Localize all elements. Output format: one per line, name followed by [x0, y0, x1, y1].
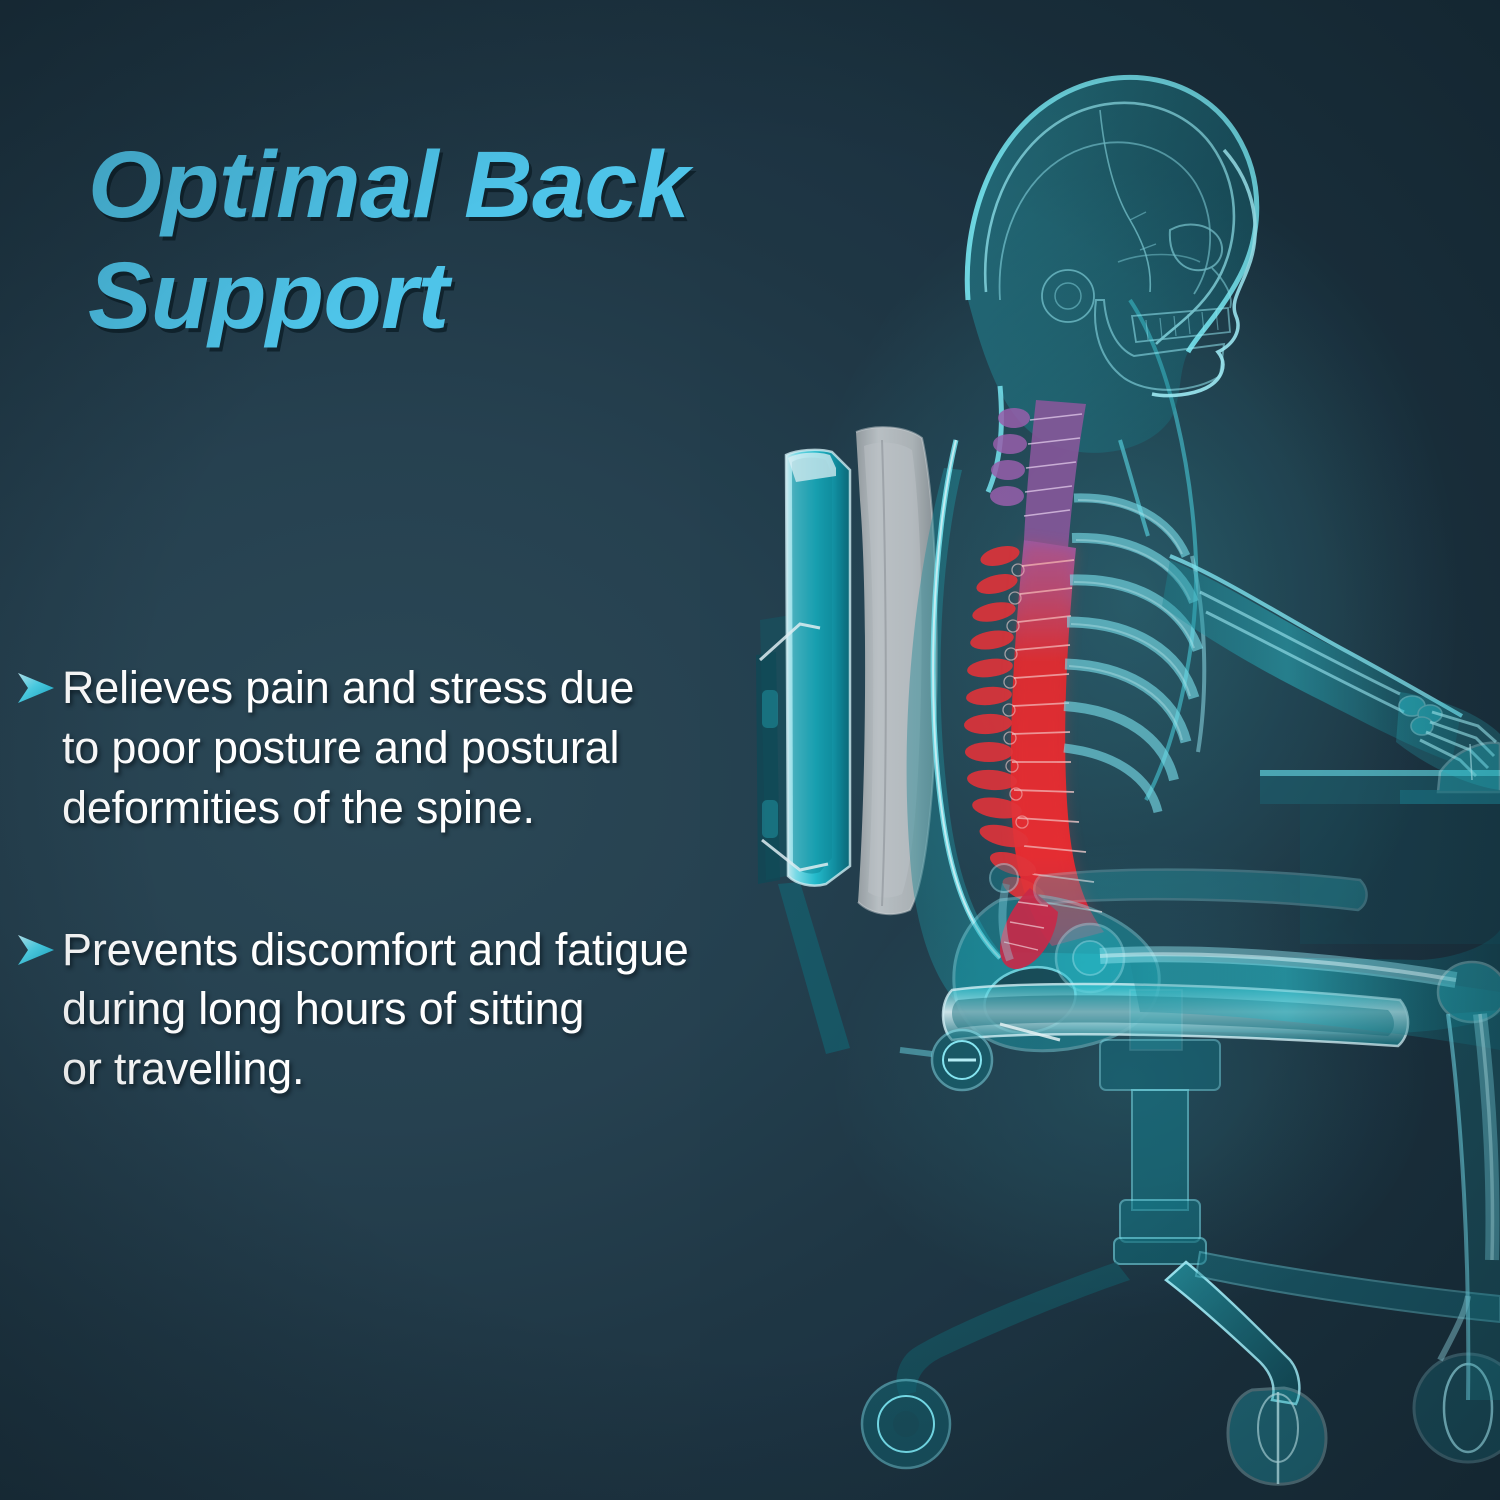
feature-bullet-1: Relieves pain and stress due to poor pos… — [14, 658, 814, 838]
bullet-2-line-3: or travelling. — [62, 1039, 814, 1099]
chevron-arrow-icon — [14, 658, 62, 708]
chevron-arrow-icon — [14, 920, 62, 970]
bullet-1-line-2: to poor posture and postural — [62, 718, 814, 778]
feature-bullet-2: Prevents discomfort and fatigue during l… — [14, 920, 814, 1100]
bullet-2-line-2: during long hours of sitting — [62, 979, 814, 1039]
feature-bullet-1-text: Relieves pain and stress due to poor pos… — [62, 658, 814, 838]
bullet-2-line-1: Prevents discomfort and fatigue — [62, 920, 814, 980]
product-feature-poster: Optimal Back Support Relieves — [0, 0, 1500, 1500]
feature-bullet-list: Relieves pain and stress due to poor pos… — [14, 658, 814, 1181]
headline-line-1: Optimal Back — [88, 130, 848, 241]
feature-bullet-2-text: Prevents discomfort and fatigue during l… — [62, 920, 814, 1100]
bullet-1-line-3: deformities of the spine. — [62, 778, 814, 838]
headline-block: Optimal Back Support — [88, 130, 848, 352]
headline-line-2: Support — [88, 241, 848, 352]
bullet-1-line-1: Relieves pain and stress due — [62, 658, 814, 718]
